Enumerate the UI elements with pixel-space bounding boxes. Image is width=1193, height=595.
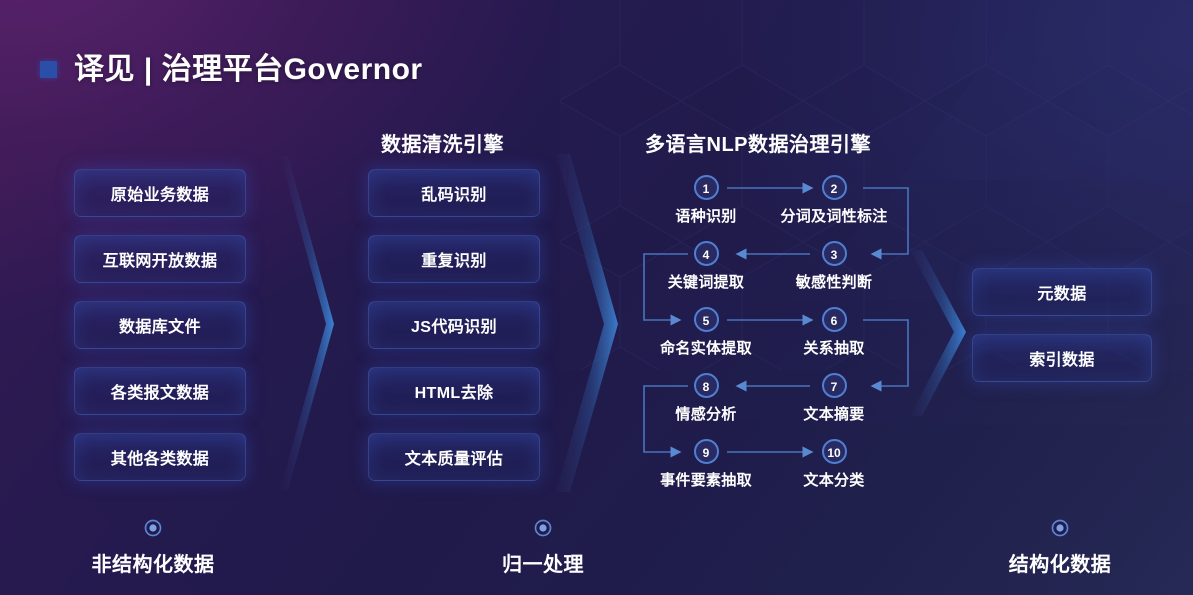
timeline-caption-0: 非结构化数据 (92, 548, 215, 577)
card-source-4[interactable]: 其他各类数据 (74, 433, 246, 481)
step-label-8: 情感分析 (651, 403, 761, 424)
heading-nlp-engine: 多语言NLP数据治理引擎 (645, 128, 871, 157)
chevron-separator-1 (268, 148, 378, 498)
nlp-step-5[interactable]: 5 命名实体提取 (651, 307, 761, 358)
timeline-caption-2: 结构化数据 (1009, 548, 1112, 577)
step-label-10: 文本分类 (779, 469, 889, 490)
card-cleaning-0[interactable]: 乱码识别 (368, 169, 540, 217)
step-badge-7: 7 (822, 373, 847, 398)
step-label-9: 事件要素抽取 (651, 469, 761, 490)
page-title: 译见 | 治理平台Governor (74, 44, 423, 88)
step-label-6: 关系抽取 (779, 337, 889, 358)
nlp-step-2[interactable]: 2 分词及词性标注 (779, 175, 889, 226)
timeline-caption-1: 归一处理 (502, 548, 584, 577)
card-output-1[interactable]: 索引数据 (972, 334, 1152, 382)
nlp-step-1[interactable]: 1 语种识别 (651, 175, 761, 226)
nlp-step-9[interactable]: 9 事件要素抽取 (651, 439, 761, 490)
step-label-5: 命名实体提取 (651, 337, 761, 358)
card-cleaning-4[interactable]: 文本质量评估 (368, 433, 540, 481)
step-label-7: 文本摘要 (779, 403, 889, 424)
step-label-1: 语种识别 (651, 205, 761, 226)
step-badge-9: 9 (694, 439, 719, 464)
card-cleaning-1[interactable]: 重复识别 (368, 235, 540, 283)
timeline-marker-dot (146, 521, 1068, 536)
step-label-2: 分词及词性标注 (779, 205, 889, 226)
step-badge-4: 4 (694, 241, 719, 266)
square-bullet-icon (40, 61, 57, 78)
nlp-step-8[interactable]: 8 情感分析 (651, 373, 761, 424)
nlp-step-10[interactable]: 10 文本分类 (779, 439, 889, 490)
step-badge-8: 8 (694, 373, 719, 398)
nlp-step-4[interactable]: 4 关键词提取 (651, 241, 761, 292)
card-source-2[interactable]: 数据库文件 (74, 301, 246, 349)
nlp-flow-diagram: 1 语种识别 2 分词及词性标注 3 敏感性判断 4 关键词提取 5 命名实体提… (630, 165, 930, 495)
step-badge-10: 10 (822, 439, 847, 464)
step-badge-6: 6 (822, 307, 847, 332)
step-label-4: 关键词提取 (651, 271, 761, 292)
step-badge-2: 2 (822, 175, 847, 200)
card-source-3[interactable]: 各类报文数据 (74, 367, 246, 415)
heading-cleaning-engine: 数据清洗引擎 (381, 128, 504, 157)
card-output-0[interactable]: 元数据 (972, 268, 1152, 316)
nlp-step-6[interactable]: 6 关系抽取 (779, 307, 889, 358)
page-header: 译见 | 治理平台Governor (40, 44, 423, 88)
card-cleaning-2[interactable]: JS代码识别 (368, 301, 540, 349)
nlp-step-7[interactable]: 7 文本摘要 (779, 373, 889, 424)
nlp-step-3[interactable]: 3 敏感性判断 (779, 241, 889, 292)
infographic-slide: 译见 | 治理平台Governor (0, 0, 1193, 595)
step-badge-3: 3 (822, 241, 847, 266)
step-badge-1: 1 (694, 175, 719, 200)
step-label-3: 敏感性判断 (779, 271, 889, 292)
card-source-1[interactable]: 互联网开放数据 (74, 235, 246, 283)
card-cleaning-3[interactable]: HTML去除 (368, 367, 540, 415)
step-badge-5: 5 (694, 307, 719, 332)
card-source-0[interactable]: 原始业务数据 (74, 169, 246, 217)
